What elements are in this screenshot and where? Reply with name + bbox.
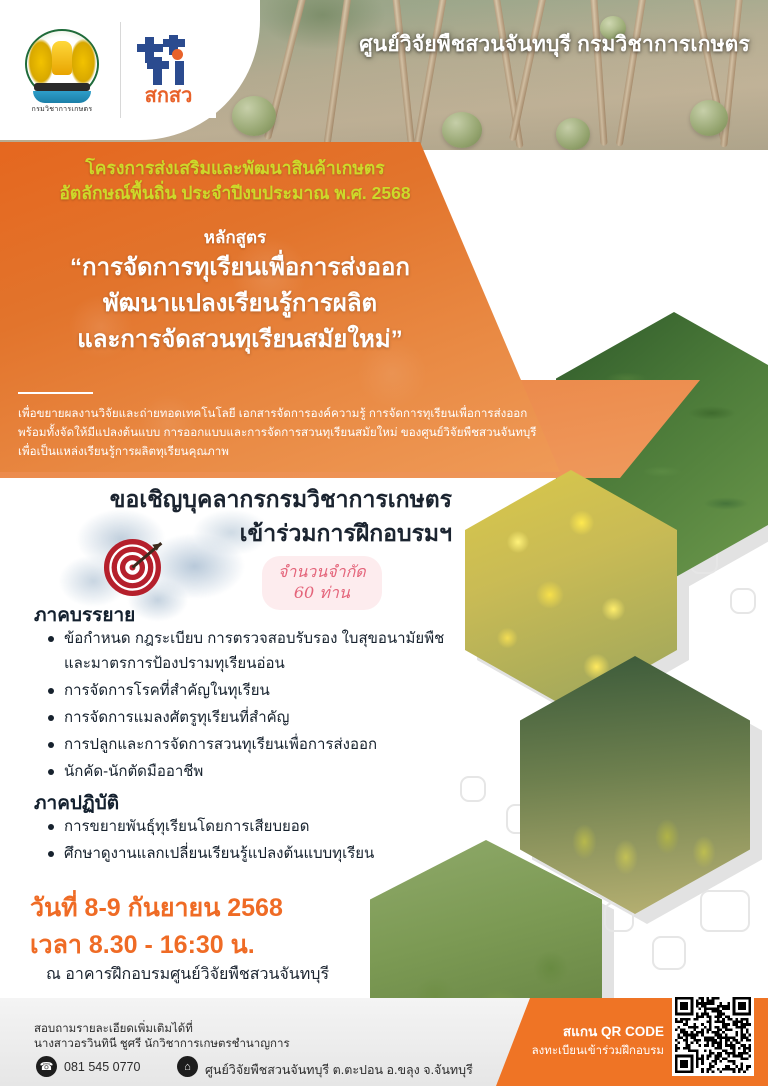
pattern-square (460, 776, 486, 802)
logo-doa-caption: กรมวิชาการเกษตร (19, 104, 105, 115)
description-line1: เพื่อขยายผลงานวิจัยและถ่ายทอดเทคโนโลยี เ… (18, 404, 658, 423)
limit-badge: จำนวนจำกัด 60 ท่าน (262, 556, 382, 610)
logo-doa: กรมวิชาการเกษตร (14, 22, 110, 118)
logo-sks: สกสว (120, 22, 216, 118)
pattern-square (652, 936, 686, 970)
project-title-line1: โครงการส่งเสริมและพัฒนาสินค้าเกษตร (0, 156, 470, 181)
description-line3: เพื่อเป็นแหล่งเรียนรู้การผลิตทุเรียนคุณภ… (18, 442, 658, 461)
invite-line1: ขอเชิญบุคลากรกรมวิชาการเกษตร (0, 482, 452, 516)
schedule-venue: ณ อาคารฝึกอบรมศูนย์วิจัยพืชสวนจันทบุรี (46, 962, 329, 987)
list-item: การปลูกและการจัดการสวนทุเรียนเพื่อการส่ง… (42, 732, 452, 757)
poster-root: ศูนย์วิจัยพืชสวนจันทบุรี กรมวิชาการเกษตร… (0, 0, 768, 1086)
contact-address: ศูนย์วิจัยพืชสวนจันทบุรี ต.ตะปอน อ.ขลุง … (205, 1060, 473, 1080)
course-title-line2: พัฒนาแปลงเรียนรู้การผลิต (0, 286, 480, 322)
list-item: นักคัด-นักตัดมืออาชีพ (42, 759, 452, 784)
pattern-square (730, 588, 756, 614)
schedule-time: เวลา 8.30 - 16:30 น. (30, 927, 283, 964)
list-item: ศึกษาดูงานแลกเปลี่ยนเรียนรู้แปลงต้นแบบทุ… (42, 841, 452, 866)
list-item: ข้อกำหนด กฎระเบียบ การตรวจสอบรับรอง ใบสุ… (42, 626, 452, 676)
course-title-line1: “การจัดการทุเรียนเพื่อการส่งออก (0, 250, 480, 286)
schedule-datetime: วันที่ 8-9 กันยายน 2568 เวลา 8.30 - 16:3… (30, 890, 283, 964)
logo-sks-caption: สกสว (127, 79, 211, 111)
contact-phone: 081 545 0770 (64, 1060, 140, 1074)
schedule-date: วันที่ 8-9 กันยายน 2568 (30, 890, 283, 927)
project-title-line2: อัตลักษณ์พื้นถิ่น ประจำปีงบประมาณ พ.ศ. 2… (0, 181, 470, 206)
limit-line1: จำนวนจำกัด (278, 561, 366, 582)
pattern-square (700, 890, 750, 932)
invite-heading: ขอเชิญบุคลากรกรมวิชาการเกษตร เข้าร่วมการ… (0, 482, 452, 550)
list-item: การจัดการโรคที่สำคัญในทุเรียน (42, 678, 452, 703)
limit-line2: 60 ท่าน (278, 582, 366, 603)
list-item: การจัดการแมลงศัตรูทุเรียนที่สำคัญ (42, 705, 452, 730)
course-title: “การจัดการทุเรียนเพื่อการส่งออก พัฒนาแปล… (0, 250, 480, 358)
project-title: โครงการส่งเสริมและพัฒนาสินค้าเกษตร อัตลั… (0, 156, 470, 206)
list-item: การขยายพันธุ์ทุเรียนโดยการเสียบยอด (42, 814, 452, 839)
lecture-list: ข้อกำหนด กฎระเบียบ การตรวจสอบรับรอง ใบสุ… (42, 626, 452, 786)
course-title-line3: และการจัดสวนทุเรียนสมัยใหม่” (0, 322, 480, 358)
description-line2: พร้อมทั้งจัดให้มีแปลงต้นแบบ การออกแบบและ… (18, 423, 658, 442)
banner-title: ศูนย์วิจัยพืชสวนจันทบุรี กรมวิชาการเกษตร (359, 28, 750, 61)
invite-line2: เข้าร่วมการฝึกอบรมฯ (0, 516, 452, 550)
qr-subtitle: ลงทะเบียนเข้าร่วมฝึกอบรม (532, 1042, 664, 1060)
project-description: เพื่อขยายผลงานวิจัยและถ่ายทอดเทคโนโลยี เ… (18, 404, 658, 461)
divider-rule (18, 392, 93, 394)
course-label: หลักสูตร (0, 224, 470, 251)
qr-title: สแกน QR CODE (563, 1020, 664, 1042)
qr-code[interactable] (672, 994, 754, 1076)
contact-person: นางสาวอรวินทินี ชูศรี นักวิชาการเกษตรชำน… (34, 1035, 290, 1053)
phone-icon: ☎ (36, 1056, 57, 1077)
practice-list: การขยายพันธุ์ทุเรียนโดยการเสียบยอด ศึกษา… (42, 814, 452, 868)
home-icon: ⌂ (177, 1056, 198, 1077)
